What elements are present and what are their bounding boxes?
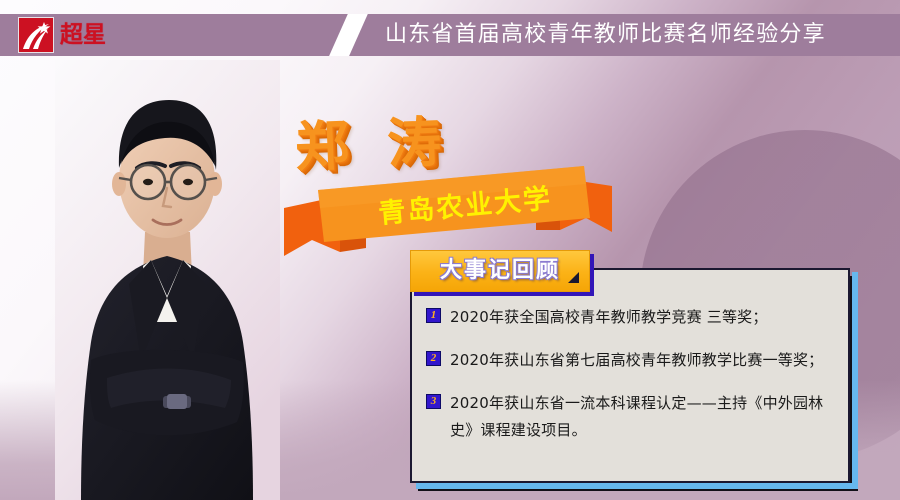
panel-tab-corner-fold [568,272,579,283]
chaoxing-star-logo-icon [18,17,54,53]
header-bar: 山东省首届高校青年教师比赛名师经验分享 [0,14,900,56]
list-item-text: 2020年获全国高校青年教师教学竞赛 三等奖； [450,304,832,331]
brand-name: 超星 [60,17,106,53]
header-slash-divider [326,14,371,56]
milestones-list: 1 2020年获全国高校青年教师教学竞赛 三等奖； 2 2020年获山东省第七届… [412,270,848,481]
milestones-panel: 1 2020年获全国高校青年教师教学竞赛 三等奖； 2 2020年获山东省第七届… [410,268,850,483]
slide-canvas: 郑涛 青岛农业大学 1 2020年获全国高校青年教师教学竞赛 三等奖； [0,0,900,500]
list-item-number: 2 [426,351,441,366]
list-item-number: 3 [426,394,441,409]
panel-edge-bottom [416,483,858,489]
list-item-text: 2020年获山东省第七届高校青年教师教学比赛一等奖； [450,347,832,374]
list-item-number: 1 [426,308,441,323]
brand-logo[interactable]: 超星 [18,17,106,53]
list-item-text: 2020年获山东省一流本科课程认定——主持《中外园林史》课程建设项目。 [450,390,832,444]
list-item: 1 2020年获全国高校青年教师教学竞赛 三等奖； [426,304,832,331]
page-title: 山东省首届高校青年教师比赛名师经验分享 [385,14,826,56]
list-item: 2 2020年获山东省第七届高校青年教师教学比赛一等奖； [426,347,832,374]
panel-tab-label: 大事记回顾 [410,250,590,292]
list-item: 3 2020年获山东省一流本科课程认定——主持《中外园林史》课程建设项目。 [426,390,832,444]
panel-edge-right [852,272,858,487]
speaker-portrait [55,60,280,500]
